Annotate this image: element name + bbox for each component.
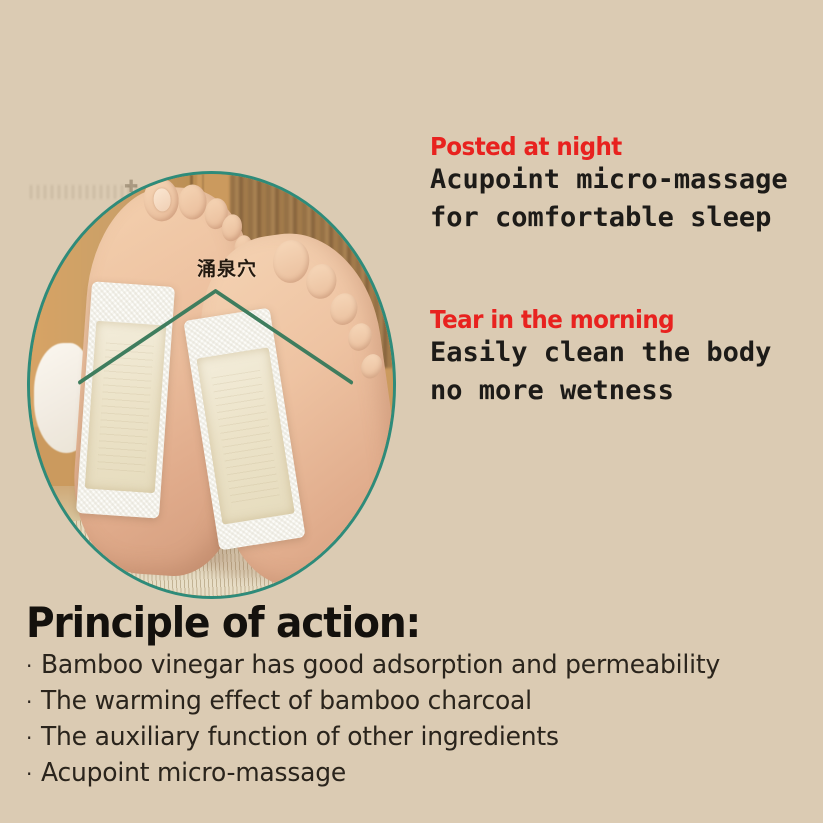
feet-photo-oval: 涌泉穴 <box>27 171 396 599</box>
principle-bullet-list: · Bamboo vinegar has good adsorption and… <box>26 650 806 794</box>
toe <box>357 351 385 382</box>
list-item-label: Acupoint micro-massage <box>41 758 346 788</box>
night-line-2: for comfortable sleep <box>430 199 788 237</box>
bullet-dot-icon: · <box>26 656 41 676</box>
photo-content: 涌泉穴 <box>30 174 393 596</box>
principle-heading: Principle of action: <box>26 598 420 647</box>
bullet-dot-icon: · <box>26 728 41 748</box>
list-item: · Acupoint micro-massage <box>26 758 806 794</box>
advertisement-page: ✚ <box>0 0 823 823</box>
list-item: · Bamboo vinegar has good adsorption and… <box>26 650 806 686</box>
detox-patch-left <box>76 281 175 518</box>
toe <box>303 262 340 303</box>
toe <box>344 320 375 355</box>
toe <box>326 290 360 328</box>
toe <box>270 238 311 285</box>
morning-line-2: no more wetness <box>430 372 771 410</box>
list-item: · The warming effect of bamboo charcoal <box>26 686 806 722</box>
night-line-1: Acupoint micro-massage <box>430 161 788 199</box>
bullet-dot-icon: · <box>26 764 41 784</box>
morning-line-1: Easily clean the body <box>430 334 771 372</box>
list-item-label: The warming effect of bamboo charcoal <box>41 686 532 716</box>
patch-pad <box>85 321 167 493</box>
acupoint-label: 涌泉穴 <box>197 254 257 281</box>
night-text-block: Posted at night Acupoint micro-massage f… <box>430 132 788 238</box>
toe <box>179 184 207 219</box>
morning-text-block: Tear in the morning Easily clean the bod… <box>430 305 771 411</box>
list-item: · The auxiliary function of other ingred… <box>26 722 806 758</box>
list-item-label: The auxiliary function of other ingredie… <box>41 722 559 752</box>
morning-kicker: Tear in the morning <box>430 305 744 334</box>
bullet-dot-icon: · <box>26 692 41 712</box>
list-item-label: Bamboo vinegar has good adsorption and p… <box>41 650 720 680</box>
night-kicker: Posted at night <box>430 132 759 161</box>
